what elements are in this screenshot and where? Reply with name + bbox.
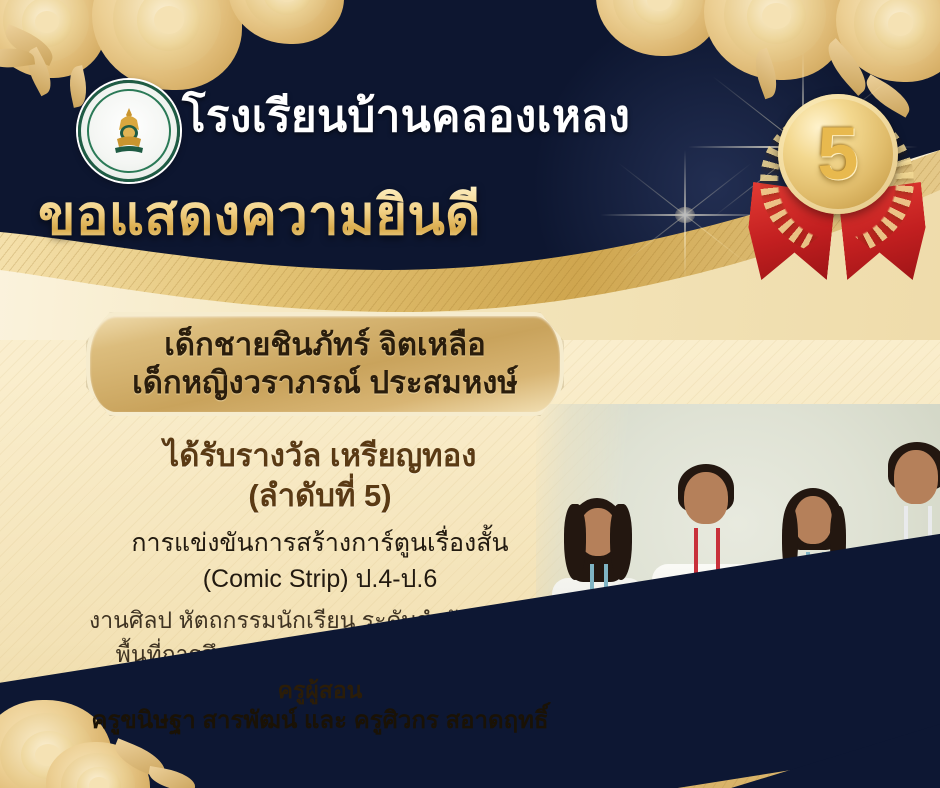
page-title: โรงเรียนบ้านคลองเหลง <box>182 92 742 143</box>
teacher-block: ครูผู้สอน ครูขนิษฐา สารพัฒน์ และ ครูศิวก… <box>0 676 640 736</box>
contest-line-1: การแข่งขันการสร้างการ์ตูนเรื่องสั้น <box>0 526 640 562</box>
teacher-label: ครูผู้สอน <box>0 676 640 705</box>
school-emblem-icon <box>78 80 180 182</box>
medal-rank-number: 5 <box>778 94 898 214</box>
teacher-names: ครูขนิษฐา สารพัฒน์ และ ครูศิวกร สอาดฤทธิ… <box>0 705 640 736</box>
congratulations-heading: ขอแสดงความยินดี <box>38 185 658 246</box>
gold-medal-badge: 5 <box>752 78 922 278</box>
emblem-crest-icon <box>109 106 149 158</box>
award-text: ได้รับรางวัล เหรียญทอง (ลำดับที่ 5) <box>0 436 640 517</box>
contest-line-2: (Comic Strip) ป.4-ป.6 <box>0 562 640 598</box>
awardee-name-banner: เด็กชายชินภัทร์ จิตเหลือ เด็กหญิงวราภรณ์… <box>86 312 564 416</box>
awardee-name-2: เด็กหญิงวราภรณ์ ประสมหงษ์ <box>132 364 518 402</box>
award-prize-line: ได้รับรางวัล เหรียญทอง <box>164 438 477 473</box>
congratulations-poster: โรงเรียนบ้านคลองเหลง ขอแสดงความยินดี 5 <box>0 0 940 788</box>
awardee-name-1: เด็กชายชินภัทร์ จิตเหลือ <box>164 326 485 364</box>
award-rank-line: (ลำดับที่ 5) <box>0 476 640 516</box>
contest-text: การแข่งขันการสร้างการ์ตูนเรื่องสั้น (Com… <box>0 526 640 597</box>
medal-coin: 5 <box>778 94 898 214</box>
